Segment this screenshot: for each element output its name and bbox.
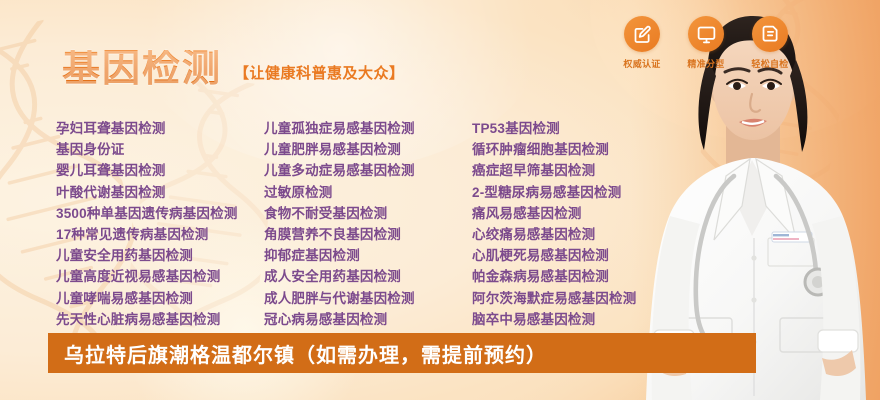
- list-item: 阿尔茨海默症易感基因检测: [472, 288, 636, 309]
- list-item: 冠心病易感基因检测: [264, 309, 472, 330]
- edit-document-icon: [624, 16, 660, 52]
- test-list-column-2: 儿童孤独症易感基因检测 儿童肥胖易感基因检测 儿童多动症易感基因检测 过敏原检测…: [264, 118, 472, 330]
- location-banner-text: 乌拉特后旗潮格温都尔镇（如需办理，需提前预约）: [64, 339, 547, 368]
- list-item: 成人肥胖与代谢基因检测: [264, 288, 472, 309]
- page-subtitle: 【让健康科普惠及大众】: [234, 62, 405, 88]
- badge-label: 精准分型: [687, 57, 724, 70]
- list-item: 心绞痛易感基因检测: [472, 224, 636, 245]
- list-item: 抑郁症基因检测: [264, 245, 472, 266]
- list-item: 基因身份证: [56, 139, 264, 160]
- test-list-columns: 孕妇耳聋基因检测 基因身份证 婴儿耳聋基因检测 叶酸代谢基因检测 3500种单基…: [56, 118, 636, 330]
- list-item: 儿童高度近视易感基因检测: [56, 266, 264, 287]
- list-item: 17种常见遗传病基因检测: [56, 224, 264, 245]
- badge-precise-typing[interactable]: 精准分型: [682, 16, 730, 70]
- list-item: 角膜营养不良基因检测: [264, 224, 472, 245]
- list-item: TP53基因检测: [472, 118, 636, 139]
- list-item: 先天性心脏病易感基因检测: [56, 309, 264, 330]
- list-item: 帕金森病易感基因检测: [472, 266, 636, 287]
- list-item: 痛风易感基因检测: [472, 203, 636, 224]
- poster-root: 基因检测 【让健康科普惠及大众】 权威认证 精准分型: [0, 0, 880, 400]
- report-page-icon: [752, 16, 788, 52]
- page-title: 基因检测: [62, 50, 222, 88]
- list-item: 癌症超早筛基因检测: [472, 160, 636, 181]
- badge-label: 权威认证: [623, 57, 660, 70]
- list-item: 儿童多动症易感基因检测: [264, 160, 472, 181]
- list-item: 循环肿瘤细胞基因检测: [472, 139, 636, 160]
- badge-label: 轻松自检: [751, 57, 788, 70]
- monitor-screen-icon: [688, 16, 724, 52]
- list-item: 2-型糖尿病易感基因检测: [472, 182, 636, 203]
- list-item: 儿童安全用药基因检测: [56, 245, 264, 266]
- list-item: 儿童肥胖易感基因检测: [264, 139, 472, 160]
- list-item: 婴儿耳聋基因检测: [56, 160, 264, 181]
- list-item: 3500种单基因遗传病基因检测: [56, 203, 264, 224]
- list-item: 儿童孤独症易感基因检测: [264, 118, 472, 139]
- list-item: 儿童哮喘易感基因检测: [56, 288, 264, 309]
- list-item: 食物不耐受基因检测: [264, 203, 472, 224]
- badge-authority-certification[interactable]: 权威认证: [618, 16, 666, 70]
- list-item: 心肌梗死易感基因检测: [472, 245, 636, 266]
- list-item: 叶酸代谢基因检测: [56, 182, 264, 203]
- feature-badges: 权威认证 精准分型 轻松自检: [618, 16, 794, 70]
- test-list-column-3: TP53基因检测 循环肿瘤细胞基因检测 癌症超早筛基因检测 2-型糖尿病易感基因…: [472, 118, 636, 330]
- list-item: 过敏原检测: [264, 182, 472, 203]
- badge-easy-self-check[interactable]: 轻松自检: [746, 16, 794, 70]
- list-item: 脑卒中易感基因检测: [472, 309, 636, 330]
- test-list-column-1: 孕妇耳聋基因检测 基因身份证 婴儿耳聋基因检测 叶酸代谢基因检测 3500种单基…: [56, 118, 264, 330]
- location-banner: 乌拉特后旗潮格温都尔镇（如需办理，需提前预约）: [48, 333, 756, 373]
- list-item: 成人安全用药基因检测: [264, 266, 472, 287]
- headline: 基因检测 【让健康科普惠及大众】: [62, 50, 405, 88]
- list-item: 孕妇耳聋基因检测: [56, 118, 264, 139]
